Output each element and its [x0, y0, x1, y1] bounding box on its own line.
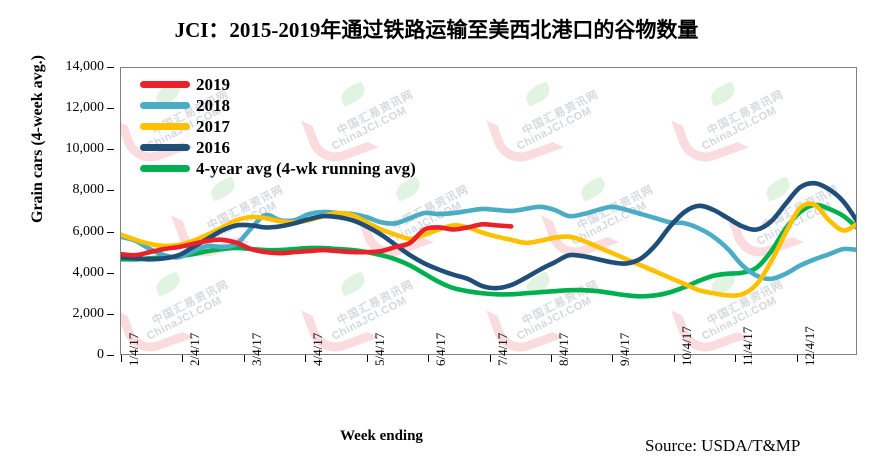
x-tick-mark	[612, 355, 613, 362]
x-tick-label: 12/4/17	[802, 326, 818, 366]
x-axis-title: Week ending	[340, 428, 423, 445]
x-tick-mark	[735, 355, 736, 362]
x-tick-mark	[182, 355, 183, 362]
legend-item-2016[interactable]: 2016	[140, 137, 470, 158]
x-tick-label: 3/4/17	[249, 333, 265, 366]
x-tick-mark	[367, 355, 368, 362]
legend-swatch-icon	[140, 102, 190, 109]
legend-label: 2017	[196, 117, 230, 137]
x-tick-label: 8/4/17	[556, 333, 572, 366]
legend-item-4year[interactable]: 4-year avg (4-wk running avg)	[140, 158, 470, 179]
x-tick-mark	[121, 355, 122, 362]
source-note: Source: USDA/T&MP	[645, 436, 800, 456]
legend-swatch-icon	[140, 165, 190, 172]
x-tick-label: 7/4/17	[495, 333, 511, 366]
legend-swatch-icon	[140, 123, 190, 130]
x-tick-label: 9/4/17	[617, 333, 633, 366]
legend-label: 4-year avg (4-wk running avg)	[196, 159, 416, 179]
legend-swatch-icon	[140, 144, 190, 151]
x-tick-mark	[305, 355, 306, 362]
x-tick-label: 2/4/17	[187, 333, 203, 366]
legend-swatch-icon	[140, 81, 190, 88]
x-tick-label: 4/4/17	[310, 333, 326, 366]
x-tick-label: 10/4/17	[679, 326, 695, 366]
legend-label: 2018	[196, 96, 230, 116]
chart-legend: 20192018201720164-year avg (4-wk running…	[140, 74, 470, 179]
x-tick-mark	[428, 355, 429, 362]
x-tick-label: 11/4/17	[740, 327, 756, 366]
legend-item-2017[interactable]: 2017	[140, 116, 470, 137]
legend-item-2018[interactable]: 2018	[140, 95, 470, 116]
x-tick-label: 1/4/17	[126, 333, 142, 366]
legend-label: 2019	[196, 75, 230, 95]
x-tick-label: 5/4/17	[372, 333, 388, 366]
legend-label: 2016	[196, 138, 230, 158]
legend-item-2019[interactable]: 2019	[140, 74, 470, 95]
x-tick-mark	[244, 355, 245, 362]
x-axis: 1/4/172/4/173/4/174/4/175/4/176/4/177/4/…	[0, 0, 873, 471]
x-tick-mark	[674, 355, 675, 362]
x-tick-mark	[797, 355, 798, 362]
x-tick-mark	[551, 355, 552, 362]
x-tick-mark	[490, 355, 491, 362]
x-tick-label: 6/4/17	[433, 333, 449, 366]
